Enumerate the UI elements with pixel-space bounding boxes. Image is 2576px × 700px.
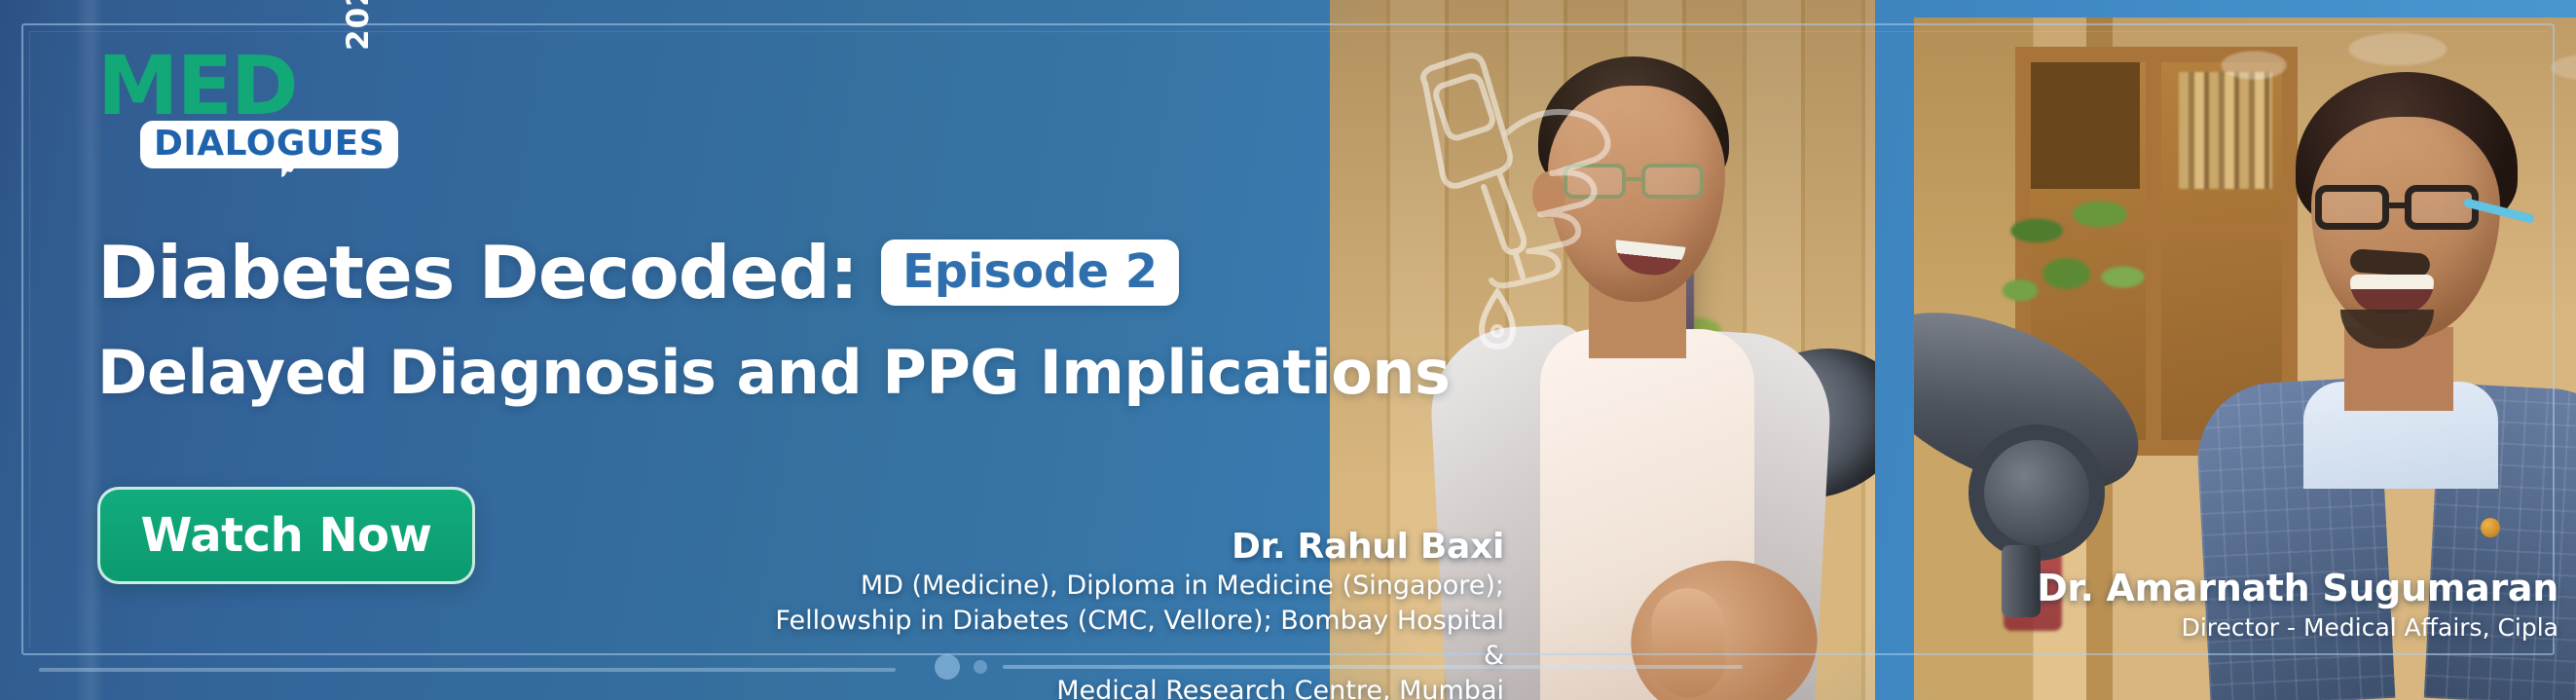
episode-badge: Episode 2 <box>881 239 1179 306</box>
speaker-credentials-line-1: MD (Medicine), Diploma in Medicine (Sing… <box>764 569 1504 604</box>
headline-row: Diabetes Decoded: Episode 2 <box>97 232 1179 313</box>
speaker-caption-amarnath-sugumaran: Dr. Amarnath Sugumaran Director - Medica… <box>2013 565 2558 645</box>
plant-decor-icon <box>1994 181 2159 347</box>
med-dialogues-logo[interactable]: MED 2025 DIALOGUES <box>97 45 389 162</box>
page-title: Diabetes Decoded: <box>97 232 858 313</box>
carousel-dot-2[interactable] <box>974 660 987 674</box>
watch-now-button[interactable]: Watch Now <box>97 487 475 584</box>
speaker-name: Dr. Amarnath Sugumaran <box>2013 565 2558 611</box>
carousel-rail-left <box>39 668 896 672</box>
mic-shockmount <box>1969 424 2105 561</box>
page-subtitle: Delayed Diagnosis and PPG Implications <box>97 336 1450 410</box>
carousel-indicators[interactable] <box>935 654 1743 680</box>
bookshelf-cubby <box>2031 62 2140 189</box>
lapel-pin <box>2481 518 2500 537</box>
speaker-credentials-line-1: Director - Medical Affairs, Cipla <box>2013 611 2558 645</box>
glucometer-icon <box>1390 51 1624 362</box>
logo-submark: DIALOGUES <box>140 121 398 168</box>
logo-wordmark: MED <box>97 45 297 127</box>
speaker-name: Dr. Rahul Baxi <box>764 526 1504 569</box>
carousel-dot-active[interactable] <box>935 654 960 680</box>
carousel-progress-rail[interactable] <box>1003 665 1743 669</box>
logo-year: 2025 <box>341 0 376 51</box>
promo-banner: MED 2025 DIALOGUES Diabetes Decoded: Epi… <box>0 0 2576 700</box>
